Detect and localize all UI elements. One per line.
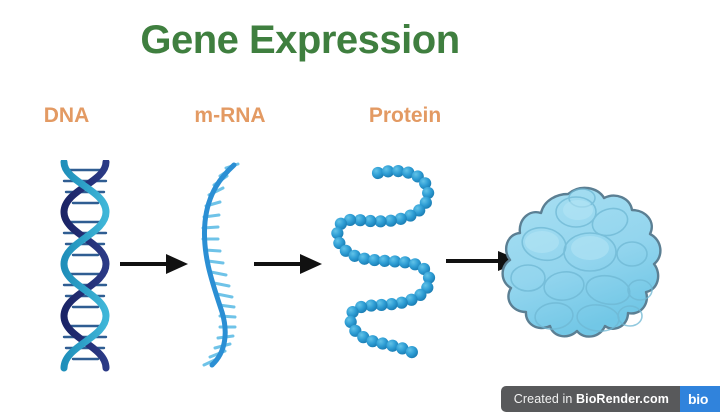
biorender-watermark: Created in BioRender.com bio (501, 386, 720, 412)
mrna-strand-icon (186, 162, 254, 370)
watermark-prefix: Created in (514, 392, 576, 406)
page-title: Gene Expression (0, 16, 600, 64)
arrow-dna-to-mrna-icon (118, 248, 190, 280)
biorender-logo: bio (680, 386, 720, 412)
diagram-canvas: Gene Expression DNA m-RNA Protein (0, 0, 720, 418)
folded-protein-icon (498, 182, 668, 354)
protein-bead-chain-icon (318, 163, 442, 365)
arrow-mrna-to-protein-icon (252, 248, 324, 280)
stage-label-protein: Protein (330, 104, 480, 128)
watermark-label: Created in BioRender.com (501, 386, 680, 412)
stage-label-dna: DNA (14, 104, 119, 128)
stage-label-mrna: m-RNA (160, 104, 300, 128)
watermark-brand: BioRender.com (576, 392, 669, 406)
